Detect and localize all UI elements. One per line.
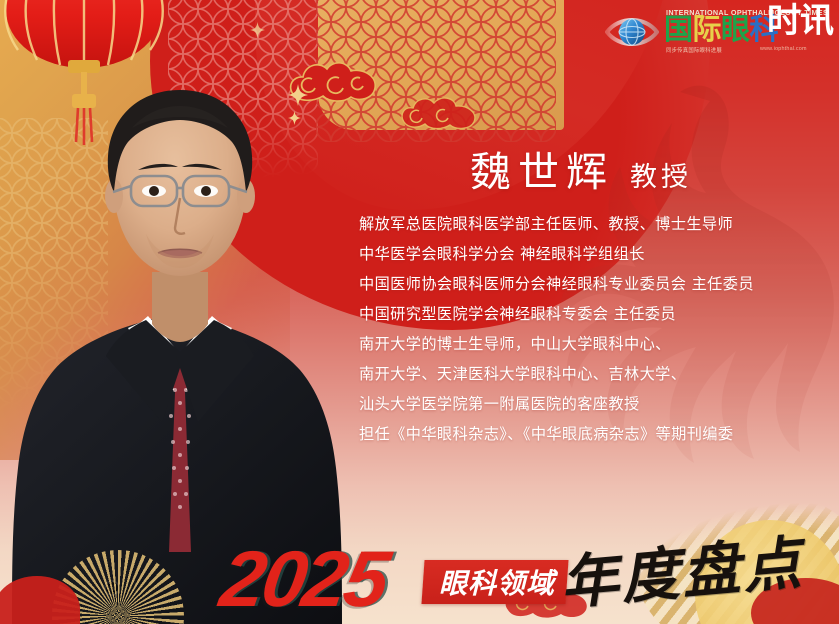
- field-label-banner: 眼科领域: [421, 560, 568, 604]
- logo-subtitle: 同步传真国际眼科进展: [666, 46, 722, 54]
- poster-canvas: INTERNATIONAL OPHTHALMOLOGY TIMES 国际眼科 同…: [0, 0, 839, 624]
- gold-panel: [318, 0, 564, 130]
- publication-logo[interactable]: INTERNATIONAL OPHTHALMOLOGY TIMES 国际眼科 同…: [605, 4, 831, 60]
- sparkle-icon-1: [288, 84, 308, 106]
- auspicious-cloud-icon-bottom: [500, 576, 610, 620]
- speaker-portrait: [0, 28, 360, 624]
- speaker-bio-list: 解放军总医院眼科医学部主任医师、教授、博士生导师 中华医学会眼科学分会 神经眼科…: [359, 209, 834, 449]
- bio-line: 汕头大学医学院第一附属医院的客座教授: [359, 389, 834, 419]
- chinese-lantern-icon: [0, 0, 176, 152]
- gold-burst-rays: [52, 550, 184, 624]
- lattice-pattern-top-right: [316, 0, 556, 142]
- bottom-banner: 2025 眼科领域 年度盘点: [0, 504, 839, 624]
- sparkle-icon-2: [288, 111, 301, 125]
- gold-gradient-wash: [0, 0, 290, 460]
- auspicious-cloud-icon: [285, 52, 389, 106]
- bio-line: 中华医学会眼科学分会 神经眼科学组组长: [359, 239, 834, 269]
- red-corner-left: [0, 576, 80, 624]
- red-corner-right: [751, 578, 839, 624]
- bio-line: 中国研究型医院学会神经眼科专委会 主任委员: [359, 299, 834, 329]
- logo-secondary-title: 时讯: [767, 4, 833, 38]
- bio-line: 解放军总医院眼科医学部主任医师、教授、博士生导师: [359, 209, 834, 239]
- sparkle-icon-3: [250, 22, 265, 38]
- speaker-name-row: 魏世辉 教授: [470, 138, 692, 198]
- bio-line: 南开大学的博士生导师，中山大学眼科中心、: [359, 329, 834, 359]
- field-label: 眼科领域: [439, 562, 555, 602]
- logo-chinese-title: 国际眼科: [664, 15, 778, 44]
- eye-globe-icon: [605, 12, 659, 52]
- bio-line: 担任《中华眼科杂志》、《中华眼底病杂志》等期刊编委: [359, 419, 834, 449]
- bio-line: 中国医师协会眼科医师分会神经眼科专业委员会 主任委员: [359, 269, 834, 299]
- lattice-pattern-top-left: [168, 0, 318, 184]
- speaker-name: 魏世辉: [470, 138, 614, 198]
- speaker-title-suffix: 教授: [630, 155, 692, 194]
- logo-url: www.iophthal.com: [760, 46, 807, 52]
- lattice-pattern-left: [0, 118, 108, 418]
- year-label: 2025: [216, 539, 392, 618]
- calligraphy-title: 年度盘点: [558, 533, 806, 612]
- gold-disc: [695, 520, 839, 624]
- bio-line: 南开大学、天津医科大学眼科中心、吉林大学、: [359, 359, 834, 389]
- auspicious-cloud-icon-small: [398, 88, 480, 132]
- gold-striped-fan: [637, 488, 839, 624]
